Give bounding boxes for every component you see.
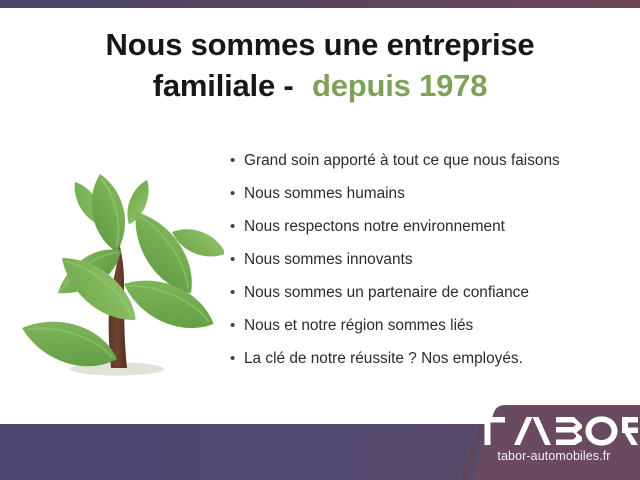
list-item-label: Nous sommes un partenaire de confiance (244, 282, 529, 304)
list-item-label: Nous sommes innovants (244, 249, 413, 271)
list-item: • Nous sommes un partenaire de confiance (230, 282, 630, 315)
list-item: • Nous sommes humains (230, 183, 630, 216)
title-line-1: Nous sommes une entreprise (0, 26, 640, 65)
list-item: • Grand soin apporté à tout ce que nous … (230, 150, 630, 183)
logo-url-label: tabor-automobiles.fr (468, 449, 640, 463)
tabor-wordmark-svg (470, 414, 638, 448)
tree-icon (14, 152, 224, 387)
logo-text-group: tabor-automobiles.fr (468, 414, 640, 463)
list-item-label: Nous et notre région sommes liés (244, 315, 473, 337)
list-item-label: Nous respectons notre environnement (244, 216, 505, 238)
slide-canvas: Nous sommes une entreprise familiale - d… (0, 0, 640, 480)
brand-logo[interactable]: tabor-automobiles.fr (440, 402, 640, 480)
bullet-icon: • (230, 249, 244, 271)
title-line-2: familiale - depuis 1978 (0, 67, 640, 106)
page-title: Nous sommes une entreprise familiale - d… (0, 26, 640, 106)
top-accent-bar (0, 0, 640, 8)
list-item-label: Nous sommes humains (244, 183, 405, 205)
list-item: • La clé de notre réussite ? Nos employé… (230, 348, 630, 381)
bullet-icon: • (230, 315, 244, 337)
bullet-icon: • (230, 348, 244, 370)
list-item: • Nous sommes innovants (230, 249, 630, 282)
logo-wordmark (468, 414, 640, 448)
title-line-2-prefix: familiale - (153, 68, 302, 103)
list-item: • Nous et notre région sommes liés (230, 315, 630, 348)
benefits-list: • Grand soin apporté à tout ce que nous … (230, 150, 630, 381)
list-item-label: La clé de notre réussite ? Nos employés. (244, 348, 523, 370)
bullet-icon: • (230, 216, 244, 238)
bullet-icon: • (230, 183, 244, 205)
bullet-icon: • (230, 150, 244, 172)
list-item-label: Grand soin apporté à tout ce que nous fa… (244, 150, 560, 172)
tree-illustration-svg (14, 152, 224, 387)
title-accent-year: depuis 1978 (312, 68, 487, 103)
list-item: • Nous respectons notre environnement (230, 216, 630, 249)
bullet-icon: • (230, 282, 244, 304)
